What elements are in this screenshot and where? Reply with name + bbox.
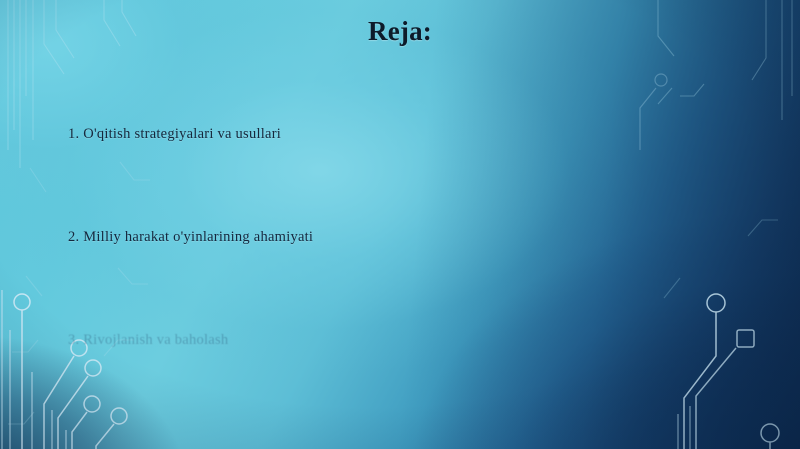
background-vignette — [0, 0, 800, 449]
background-topleft-glow — [0, 0, 800, 449]
background-bottomright-shadow — [0, 0, 800, 449]
slide-title: Reja: — [0, 16, 800, 47]
presentation-slide: Reja: 1. O'qitish strategiyalari va usul… — [0, 0, 800, 449]
background-center-glow — [0, 0, 800, 449]
agenda-item-3: 3. Rivojlanish va baholash — [68, 332, 228, 349]
circuit-traces-right — [620, 0, 800, 449]
circuit-traces-left — [0, 0, 180, 449]
background-bottomleft-shadow — [0, 0, 800, 449]
slide-background-gradient — [0, 0, 800, 449]
agenda-item-1: 1. O'qitish strategiyalari va usullari — [68, 126, 281, 143]
agenda-item-2: 2. Milliy harakat o'yinlarining ahamiyat… — [68, 229, 313, 246]
background-right-shadow — [0, 0, 800, 449]
